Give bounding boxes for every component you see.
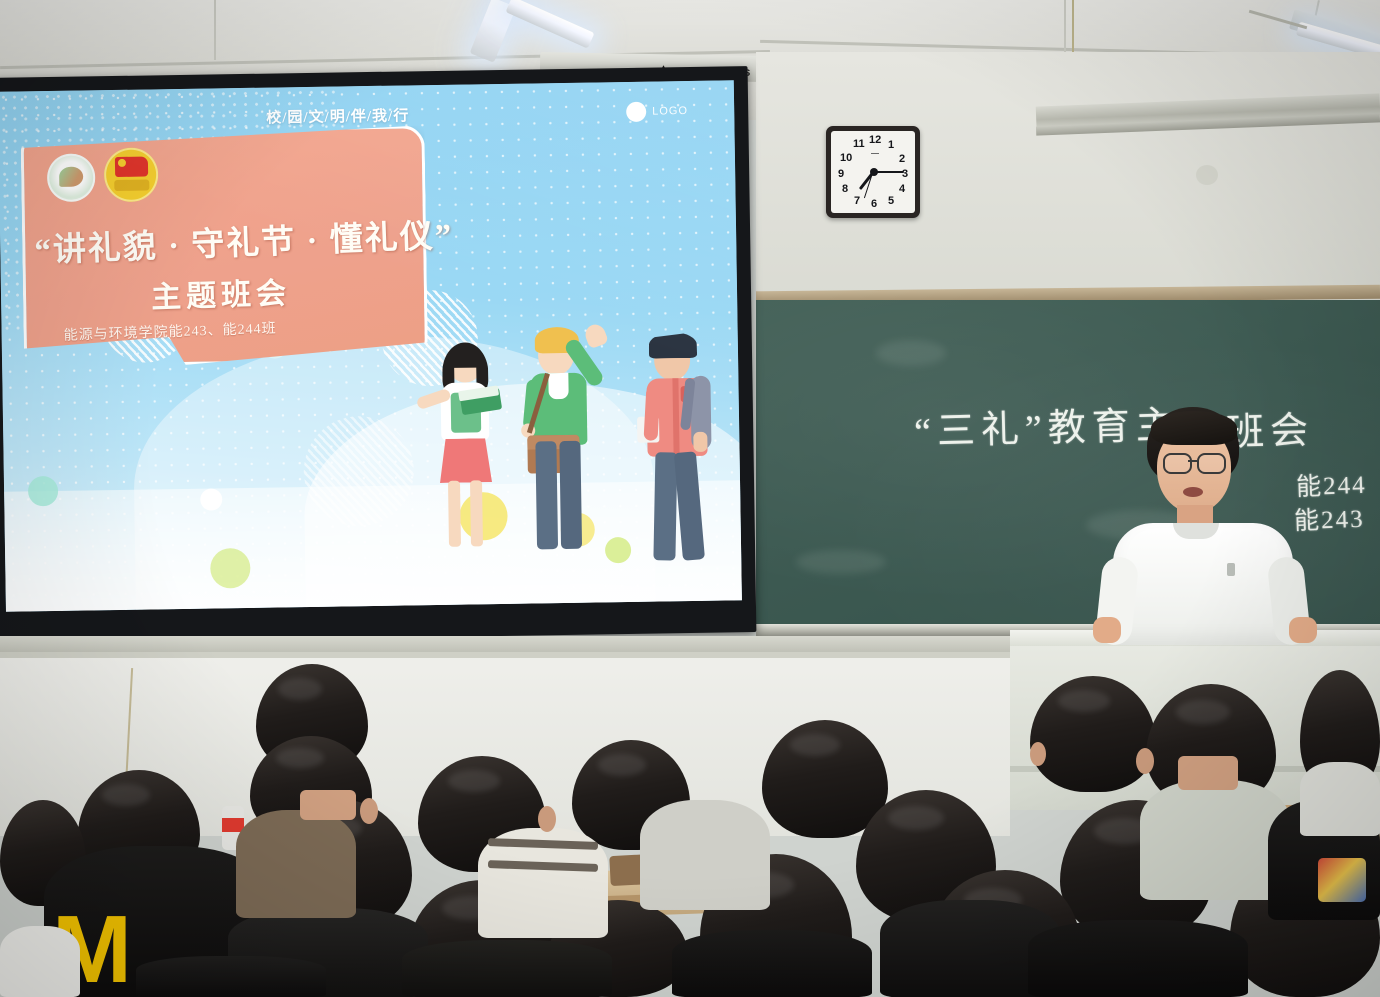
audience-torso-light <box>1300 762 1380 836</box>
shirt-graphic-patch <box>1318 858 1366 902</box>
audience-torso-dark-2 <box>402 940 612 997</box>
clock-numeral-3: 3 <box>902 168 908 180</box>
speaker-fringe <box>1151 411 1237 445</box>
speaker-shirt-logo <box>1227 563 1235 576</box>
speaker-glasses-bridge <box>1188 460 1197 462</box>
lower-wall-trim <box>0 636 1010 652</box>
lower-wall-trim-shadow <box>0 652 1010 658</box>
presenting-student <box>1085 405 1345 640</box>
ceiling-panel-line <box>214 0 216 60</box>
speaker-shirt <box>1113 523 1293 645</box>
audience-neck <box>300 790 356 820</box>
clock-numeral-5: 5 <box>888 195 894 207</box>
clock-numeral-12: 12 <box>869 134 881 146</box>
chalk-smudge-3 <box>796 550 886 574</box>
audience-torso-dark-7 <box>136 956 326 997</box>
speaker-hand-left <box>1093 617 1121 643</box>
audience-torso-brown <box>236 810 356 918</box>
classroom-scene: THREE LEAVES 12 1 2 3 4 5 6 7 8 9 10 11 <box>0 0 1380 997</box>
wall-clock: 12 1 2 3 4 5 6 7 8 9 10 11 <box>826 126 920 218</box>
audience-torso-dark-3 <box>672 930 872 997</box>
clock-brand-mark <box>871 149 879 154</box>
clock-numeral-8: 8 <box>842 183 848 195</box>
speaker-mouth <box>1183 487 1203 497</box>
clock-numeral-4: 4 <box>899 183 905 195</box>
presentation-slide: 校/园/文/明/伴/我/行 LOGO “讲礼貌 · 守礼节 · 懂礼仪” 主题班… <box>0 80 742 611</box>
ceiling-panel-line-2 <box>1064 0 1066 52</box>
audience-ear <box>538 806 556 832</box>
audience-torso-dark-6 <box>1028 920 1248 997</box>
clock-numeral-2: 2 <box>899 153 905 165</box>
projection-screen-surface: 校/园/文/明/伴/我/行 LOGO “讲礼貌 · 守礼节 · 懂礼仪” 主题班… <box>0 80 742 611</box>
wall-fixture-knob <box>1196 165 1218 185</box>
clock-numeral-6: 6 <box>871 198 877 210</box>
speaker-glasses-right-lens <box>1197 453 1226 474</box>
clock-face: 12 1 2 3 4 5 6 7 8 9 10 11 <box>831 131 915 213</box>
audience-ear <box>1136 748 1154 774</box>
clock-numeral-9: 9 <box>838 168 844 180</box>
clock-numeral-10: 10 <box>840 152 852 164</box>
audience-ear <box>1030 742 1046 766</box>
audience-ear <box>360 798 378 824</box>
clock-numeral-11: 11 <box>853 138 865 150</box>
clock-center-pin <box>870 168 878 176</box>
slide-projector-glare <box>0 80 742 611</box>
audience-torso-grey <box>640 800 770 910</box>
clock-numeral-1: 1 <box>888 139 894 151</box>
audience-neck <box>1178 756 1238 790</box>
speaker-glasses-left-lens <box>1163 453 1192 474</box>
chalk-smudge <box>876 340 946 366</box>
audience-torso-white <box>0 926 80 997</box>
clock-numeral-7: 7 <box>854 195 860 207</box>
projection-screen[interactable]: 校/园/文/明/伴/我/行 LOGO “讲礼貌 · 守礼节 · 懂礼仪” 主题班… <box>0 66 756 644</box>
speaker-hand-right <box>1289 617 1317 643</box>
